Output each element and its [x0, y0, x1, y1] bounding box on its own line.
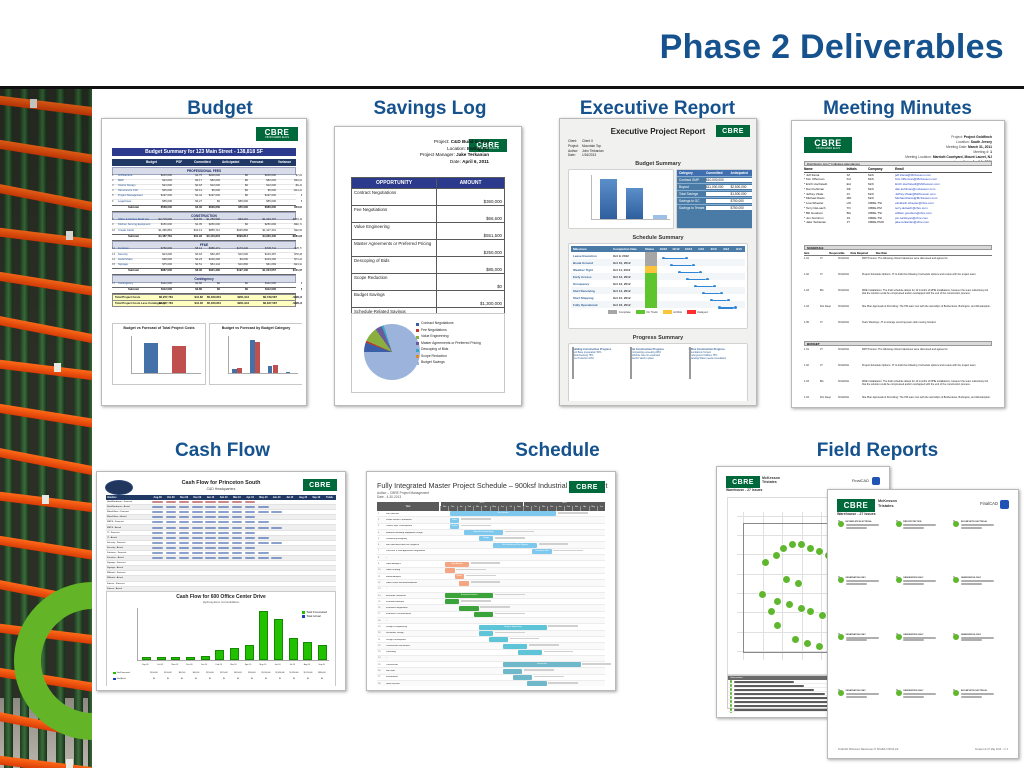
task-no: 4: [378, 532, 384, 534]
row-val-0: $112,000: [146, 282, 172, 285]
caption-line: [846, 583, 867, 585]
cf-value: [205, 532, 216, 534]
subtotal-val-5: $0: [278, 288, 302, 291]
task-name: Construction: [386, 664, 398, 666]
savings-table-header: OPPORTUNITY AMOUNT: [352, 178, 504, 188]
cf-value: [218, 532, 229, 534]
total-val-0: $6,257,781: [147, 295, 173, 299]
label-meeting-minutes: Meeting Minutes: [795, 98, 1000, 120]
cf-cell: [230, 501, 243, 503]
caption-line: [846, 527, 867, 529]
bar: [255, 342, 260, 373]
total-val-5: -$481,806: [279, 295, 302, 299]
header-label: Project:: [434, 139, 451, 144]
sc-date-text: [495, 613, 525, 615]
row-val-3: $3,000: [222, 258, 248, 261]
legend-swatch: [416, 355, 419, 358]
dist-col-2: Company: [868, 167, 895, 171]
header-label: Meeting Location:: [905, 155, 933, 159]
caption-line: [846, 639, 867, 641]
sc-date-text: [524, 669, 554, 671]
photo-cell[interactable]: INCOMPLETE ELECTRICAL: [838, 520, 893, 573]
task-name: Incentives Documentation: [386, 613, 411, 615]
issue-marker[interactable]: [773, 597, 782, 606]
note-owner: BG: [820, 289, 838, 296]
legend-label: Total Actual: [306, 614, 320, 618]
document-meeting-minutes[interactable]: CBRE CB RICHARD ELLIS Project: Project G…: [791, 120, 1005, 408]
cbre-logo: CBRE CB RICHARD ELLIS: [256, 127, 298, 141]
photo-caption-row: OBSERVATION ONLY: [838, 634, 893, 642]
note-owner: JT: [820, 321, 838, 324]
cf-value: [258, 506, 269, 508]
savings-page: CBRE CB RICHARD ELLIS Project: C&D Build…: [339, 131, 517, 401]
col-2: Committed: [194, 160, 211, 164]
schedule-row: Fully OperationalOct 16, 2012: [571, 301, 745, 308]
bar: [237, 368, 242, 373]
chart-plot-area: Sep-09Oct-09Nov-09Dec-09Jan-10Feb-10Mar-…: [137, 608, 329, 661]
schedule-summary-heading: Schedule Summary: [564, 235, 752, 241]
progress-summary-heading: Progress Summary: [564, 335, 752, 341]
dist-col-0: Name: [804, 167, 847, 171]
sc-date-text: [461, 600, 491, 602]
budget-summary-heading: Budget Summary: [564, 161, 752, 167]
row-val-5: $73,290: [278, 258, 302, 261]
photo-caption: OBSERVATION ONLY: [903, 577, 950, 579]
header-value: Project Goldfinch: [964, 135, 992, 139]
bs-category: Savings to Tenant: [679, 206, 706, 210]
cf-value: [192, 547, 203, 549]
cf-data-cell: $60,000: [189, 672, 203, 674]
name: Total Forecasted: [117, 672, 130, 674]
issue-marker[interactable]: [803, 639, 812, 648]
row-item: Project Management: [118, 194, 143, 197]
cf-xlabel: Feb-10: [211, 664, 226, 666]
photo-cell[interactable]: OBSERVATION ONLY: [838, 689, 893, 742]
sc-milestone: Occupancy: [571, 282, 613, 286]
cf-data-cell: $0: [189, 678, 203, 680]
cf-value: [192, 542, 203, 544]
issue-marker[interactable]: [794, 579, 803, 588]
bar: [232, 369, 237, 373]
cf-xlabel: Nov-09: [167, 664, 182, 666]
task-name: Purchase & Sale Agreement Negotiation: [386, 550, 425, 552]
cf-cell: [230, 542, 243, 544]
document-executive-report[interactable]: Executive Project Report CBRE Client: Cl…: [559, 118, 757, 406]
cf-value: [166, 516, 177, 518]
row-val-0: $55,000: [146, 200, 172, 203]
cf-bar-Oct-09: [157, 657, 166, 660]
task-no: 28: [378, 683, 384, 685]
photo-cell[interactable]: OBSERVATION ONLY: [896, 633, 951, 686]
cf-value: [245, 516, 256, 518]
schedule-header-row: Task20132014NovDecJanFebMarAprMayJunJulA…: [377, 502, 605, 511]
photo-caption: INCOMPLETE ELECTRICAL: [961, 521, 1008, 523]
legend-item: At Risk: [663, 310, 682, 314]
cf-cell: [151, 537, 164, 539]
cf-value: [205, 542, 216, 544]
cf-cell: [244, 557, 257, 559]
savings-header-line: Location: Ewing, NJ: [379, 146, 489, 153]
col-4: Forecast: [250, 160, 263, 164]
cf-xlabel: Oct-09: [153, 664, 168, 666]
savings-row: Value Engineering$551,500: [352, 222, 504, 239]
row-val-0: $1,395,881: [146, 229, 172, 232]
row-val-4: $60,000: [250, 179, 276, 182]
minutes-col-header: ItemResponsibleDate RequiredDue Date: [804, 252, 992, 256]
sc-task-track: [440, 637, 605, 642]
minutes-section-title: BUDGET: [804, 341, 992, 346]
cf-bar-May-10: [259, 611, 268, 660]
note-text: RFP Process: The following critical mile…: [862, 257, 992, 260]
document-field-report-photos[interactable]: CBRE McKesson Tristates Warehouse - 27 I…: [827, 489, 1019, 759]
sc-milestone: Lease Execution: [571, 254, 613, 258]
cf-cell: [257, 511, 270, 513]
row-val-0: $2,715,000: [146, 218, 172, 221]
caption-text: OBSERVATION ONLY: [846, 577, 893, 585]
document-cash-flow[interactable]: Cash Flow for Princeton South C&D Headqu…: [96, 471, 346, 691]
sc-date: Oct 16, 2012: [613, 303, 645, 307]
schedule-legend: CompleteOn TrackAt RiskDelayed: [571, 310, 745, 314]
cf-row-label: Millwork - Actual: [106, 577, 151, 579]
bs-row: Savings to Tenant$750,000: [677, 204, 752, 211]
sc-status: [645, 273, 657, 280]
cf-xlabel: Jul-10: [285, 664, 300, 666]
legend-item: Delayed: [687, 310, 708, 314]
row-item: Legal Fees: [118, 200, 131, 203]
cf-value: [179, 521, 190, 523]
document-schedule[interactable]: Fully Integrated Master Project Schedule…: [366, 471, 616, 691]
sc-status: [645, 287, 657, 294]
cf-xlabel: Mar-10: [226, 664, 241, 666]
cf-value: [179, 537, 190, 539]
row-val-3: $0: [222, 174, 248, 177]
row-no: 17: [112, 282, 115, 285]
row-val-2: $60,000: [194, 179, 220, 182]
bs-col-1: Committed: [706, 171, 731, 175]
cf-cell: [177, 552, 190, 554]
savings-opportunity: Contract Negotiations: [352, 189, 437, 205]
cf-cell: [217, 521, 230, 523]
cf-row-label: Fitness - Actual: [106, 588, 151, 590]
document-savings-log[interactable]: CBRE CB RICHARD ELLIS Project: C&D Build…: [334, 126, 522, 406]
photo-cell[interactable]: OBSERVATION ONLY: [896, 576, 951, 629]
photo-cell[interactable]: FIRE PROTECTION: [896, 520, 951, 573]
cf-cell: [177, 506, 190, 508]
sc-task-label: 12Labor Profile Recommendations: [377, 582, 440, 584]
col-1: Responsible: [829, 252, 850, 255]
photo-status-dot: [896, 690, 902, 696]
task-no: 11: [378, 576, 384, 578]
task-name: Construction Documents: [386, 645, 410, 647]
cf-cell: [164, 537, 177, 539]
sc-date-text: [461, 518, 491, 520]
issue-marker[interactable]: [818, 611, 827, 620]
cf-cell: [244, 506, 257, 508]
cf-cell: [230, 557, 243, 559]
photo-cell[interactable]: OBSERVATION ONLY: [953, 576, 1008, 629]
header-value: South Jersey: [971, 140, 992, 144]
subtotal-val-2: $3,416,804: [194, 235, 220, 238]
header-label: Location:: [447, 146, 467, 151]
cf-cell: [177, 537, 190, 539]
cf-value: [152, 537, 163, 539]
cf-col-7: Mar-10: [230, 496, 243, 499]
task-no: 10: [378, 569, 384, 571]
issue-marker[interactable]: [806, 544, 815, 553]
photo-cell[interactable]: OBSERVATION ONLY: [838, 576, 893, 629]
cf-cell: [191, 547, 204, 549]
photo-cell[interactable]: INCOMPLETE ELECTRICAL: [953, 520, 1008, 573]
sc-date-text: [471, 562, 501, 564]
legend-item: Master Agreements or Preferred Pricing: [416, 342, 500, 346]
task-name: Market Analysis: [386, 576, 401, 578]
photo-caption-row: OBSERVATION ONLY: [953, 634, 1008, 642]
caption-text: OBSERVATION ONLY: [903, 577, 950, 585]
gantt-dot-start: [718, 306, 721, 309]
row-val-5: -$581,113: [278, 218, 302, 221]
cf-value: [152, 521, 163, 523]
task-no: 6: [378, 544, 384, 546]
cf-data-cell: $0: [315, 678, 329, 680]
subtotal-val-0: $568,000: [146, 206, 172, 209]
task-no: 20: [378, 632, 384, 634]
photo-status-dot: [896, 521, 902, 527]
sc-col-period: 1/13: [695, 247, 708, 251]
issue-marker[interactable]: [758, 590, 767, 599]
photo-cell[interactable]: OBSERVATION ONLY: [838, 633, 893, 686]
row-val-3: $0: [222, 223, 248, 226]
cf-value: [232, 506, 243, 508]
savings-header-block: Project: C&D Build to SuitLocation: Ewin…: [379, 139, 489, 166]
cf-cell: [257, 527, 270, 529]
row-val-5: $7,000: [278, 174, 302, 177]
cf-value: [258, 542, 269, 544]
cf-value: [271, 527, 282, 529]
cf-cell: [151, 552, 164, 554]
field-photos-page: CBRE McKesson Tristates Warehouse - 27 I…: [832, 494, 1014, 754]
photo-status-dot: [953, 521, 959, 527]
cbre-logo: CBRE: [303, 479, 337, 491]
savings-header-line: Project: C&D Build to Suit: [379, 139, 489, 146]
row-val-5: $0: [278, 282, 302, 285]
cf-data-cell: $0: [147, 678, 161, 680]
sc-gantt-bar: Budget: [479, 536, 494, 541]
row-val-4: $103,290: [250, 258, 276, 261]
cf-cell: [151, 506, 164, 508]
legend-item: Fee Negotiations: [416, 329, 500, 333]
photo-caption-row: INCOMPLETE ELECTRICAL: [953, 690, 1008, 698]
cf-value: [179, 501, 190, 503]
cf-cell: [230, 552, 243, 554]
cf-value: [152, 547, 163, 549]
subtotal-val-3: $197,130: [222, 269, 248, 272]
exec-meta-block: Client: Client XProject: Mountain TopAut…: [568, 139, 604, 158]
cf-value: [152, 557, 163, 559]
header-value: C&D Build to Suit: [451, 139, 489, 144]
sc-task-track: Site Selection: [440, 511, 605, 516]
photo-caption-row: OBSERVATION ONLY: [896, 634, 951, 642]
bs-row: Total Savings$1,500,000: [677, 190, 752, 197]
note-owner: JT: [820, 348, 838, 351]
caption-line: [961, 693, 994, 695]
col-1: PSF: [176, 160, 182, 164]
sc-date-text: [548, 625, 578, 627]
cf-col-12: Aug-10: [296, 496, 309, 499]
cf-value: [258, 552, 269, 554]
label-budget: Budget: [130, 98, 310, 120]
cf-value: [205, 511, 216, 513]
row-val-4: $197,000: [250, 194, 276, 197]
savings-row: Scope Reduction$0: [352, 273, 504, 290]
label-cash-flow: Cash Flow: [130, 440, 315, 462]
sc-date-text: [582, 663, 611, 665]
legend-swatch: [416, 349, 419, 352]
cf-value: [152, 501, 163, 503]
cf-cell: [191, 511, 204, 513]
schedule-gantt: MilestoneCompletion DateStatus10/1211/12…: [571, 246, 745, 326]
cf-cell: [177, 516, 190, 518]
budget-summary-chart: [568, 169, 674, 229]
cf-cell: [257, 552, 270, 554]
issue-marker[interactable]: [779, 544, 788, 553]
cf-data-cell: $60,000: [175, 672, 189, 674]
task-no: 19: [378, 626, 384, 628]
sc-col-period: 10/12: [657, 247, 670, 251]
col-0: Item: [804, 252, 829, 255]
sc-date: Oct 11, 2012: [613, 268, 645, 272]
col-0: Budget: [146, 160, 157, 164]
col-opportunity: OPPORTUNITY: [352, 179, 437, 187]
issue-marker[interactable]: [797, 604, 806, 613]
subtotal-val-3: $699,814: [222, 235, 248, 238]
total-val-4: $6,627,587: [251, 301, 277, 305]
cf-cell: [217, 506, 230, 508]
col-3: Due Date: [876, 252, 992, 255]
caption-line: [903, 693, 936, 695]
row-no: 8: [112, 218, 114, 221]
cf-cell: [204, 532, 217, 534]
minutes-page: CBRE CB RICHARD ELLIS Project: Project G…: [796, 125, 1000, 403]
document-budget[interactable]: CBRE CB RICHARD ELLIS Budget Summary for…: [101, 118, 307, 406]
sc-gantt-bar: [503, 669, 522, 674]
row-val-0: $75,000: [146, 263, 172, 266]
cf-cell: [244, 501, 257, 503]
sc-date-text: [495, 632, 525, 634]
issue-marker[interactable]: [761, 558, 770, 567]
cf-row-label: Fitness - Forecast: [106, 583, 151, 585]
cf-cell: [244, 516, 257, 518]
cf-cell: [230, 527, 243, 529]
legend-label: Contract Negotiations: [421, 322, 454, 326]
cf-value: [192, 552, 203, 554]
row-val-0: $150,000: [146, 223, 172, 226]
minutes-note-row: 1.03BG3/31/2011MRE Installations: The dr…: [804, 289, 992, 296]
cf-data-cell: $2,650,000: [273, 672, 287, 674]
cf-value: [152, 506, 163, 508]
cf-data-cell: $0: [301, 678, 315, 680]
row-no: 3: [112, 184, 114, 187]
cf-value: [232, 537, 243, 539]
cf-cell: [270, 511, 283, 513]
cf-cell: [151, 557, 164, 559]
cf-cell: [151, 542, 164, 544]
sc-date: Oct 12, 2012: [613, 282, 645, 286]
cf-cell: [164, 552, 177, 554]
legend-swatch: [687, 310, 696, 314]
sc-milestone: Early Access: [571, 275, 613, 279]
row-val-2: $197,000: [194, 194, 220, 197]
cf-row-label: MEPS - Actual: [106, 527, 151, 529]
task-no: 24: [378, 657, 384, 659]
cf-value: [205, 527, 216, 529]
row-val-2: $10,000: [194, 184, 220, 187]
cf-value: [218, 557, 229, 559]
task-name: Labor Analytics: [386, 563, 401, 565]
savings-pie-chart: Contract NegotiationsFee NegotiationsVal…: [351, 313, 505, 393]
photo-cell[interactable]: OBSERVATION ONLY: [953, 633, 1008, 686]
finalcad-icon: [872, 477, 880, 485]
subtotal-val-4: $4,900,430: [250, 235, 276, 238]
cf-value: [179, 506, 190, 508]
sc-gantt-bar: [489, 637, 508, 642]
issue-marker[interactable]: [772, 551, 781, 560]
task-name: Define Search Parameters: [386, 519, 412, 521]
cf-value: [245, 552, 256, 554]
header-label: Meeting Date:: [946, 145, 968, 149]
legend-swatch: [663, 310, 672, 314]
cf-value: [232, 511, 243, 513]
cf-bar-Feb-10: [215, 650, 224, 660]
cf-xlabel: Sep-10: [314, 664, 329, 666]
cf-cell: [204, 557, 217, 559]
caption-text: FIRE PROTECTION: [903, 521, 950, 529]
photo-cell[interactable]: OBSERVATION ONLY: [896, 689, 951, 742]
cf-cell: [177, 557, 190, 559]
cf-value: [245, 527, 256, 529]
cf-cell: [177, 532, 190, 534]
caption-line: [903, 639, 924, 641]
legend-swatch: [416, 342, 419, 345]
label-schedule: Schedule: [465, 440, 650, 462]
note-date: 3/31/2011: [838, 321, 862, 324]
progress-photos: Building Construction Progress-Sub Base …: [572, 347, 744, 399]
issue-dot: [730, 680, 732, 682]
sc-task-track: Market: [440, 574, 605, 579]
task-no: 13: [378, 588, 384, 590]
issue-marker[interactable]: [785, 600, 794, 609]
row-no: 1: [112, 174, 114, 177]
row-item: Contingency: [118, 282, 133, 285]
row-item: Audio/Video: [118, 258, 132, 261]
sc-task-track: Construction: [440, 662, 605, 667]
sc-timeline-header: 20132014NovDecJanFebMarAprMayJunJulAugSe…: [440, 502, 605, 511]
task-no: 26: [378, 670, 384, 672]
photo-cell[interactable]: INCOMPLETE ELECTRICAL: [953, 689, 1008, 742]
progress-photo: [689, 347, 691, 379]
photo-status-dot: [838, 521, 844, 527]
cf-cell: [270, 542, 283, 544]
cf-data-cell: $0: [203, 678, 217, 680]
row-val-0: $38,000: [146, 258, 172, 261]
sc-gantt-bar: [459, 606, 478, 611]
savings-amount: $551,500: [437, 223, 504, 239]
sc-task-label: 9Labor Analytics: [377, 563, 440, 565]
sc-task-label: 18-: [377, 620, 440, 622]
legend-item: Value Engineering: [416, 335, 500, 339]
sc-gantt-bar: Define: [450, 518, 460, 523]
cf-row-label: Hard/Hardware - Actual: [106, 506, 151, 508]
sc-gantt-bar: Construction: [503, 662, 581, 667]
